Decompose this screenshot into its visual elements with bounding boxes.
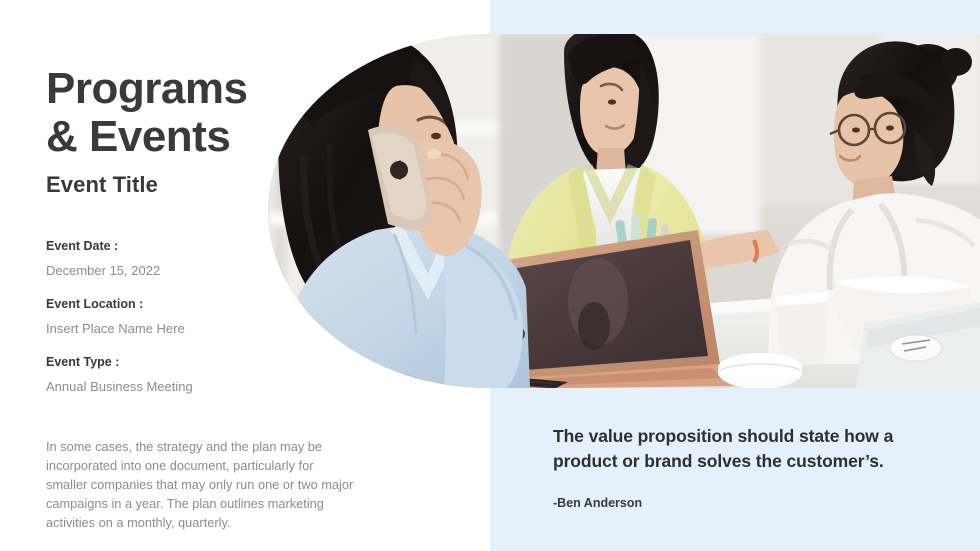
slide-canvas: Programs & Events Event Title Event Date…: [0, 0, 980, 551]
event-details-list: Event Date : December 15, 2022 Event Loc…: [46, 238, 376, 395]
event-date-label: Event Date :: [46, 238, 376, 254]
desk-mug: [776, 292, 828, 366]
body-paragraph: In some cases, the strategy and the plan…: [46, 437, 358, 532]
page-title-line2: & Events: [46, 113, 376, 161]
event-location-value: Insert Place Name Here: [46, 321, 376, 337]
computer-mouse: [718, 353, 802, 388]
page-title: Programs & Events: [46, 65, 376, 161]
event-location-label: Event Location :: [46, 296, 376, 312]
quote-text: The value proposition should state how a…: [553, 424, 908, 474]
event-type-value: Annual Business Meeting: [46, 379, 376, 395]
page-title-line1: Programs: [46, 64, 247, 113]
event-date-value: December 15, 2022: [46, 263, 376, 279]
event-title: Event Title: [46, 172, 158, 198]
event-type-label: Event Type :: [46, 354, 376, 370]
quote-author: -Ben Anderson: [553, 496, 908, 510]
laptop-sticker: [890, 335, 942, 361]
quote-block: The value proposition should state how a…: [553, 424, 908, 510]
left-content-column: Programs & Events Event Title Event Date…: [46, 0, 376, 551]
